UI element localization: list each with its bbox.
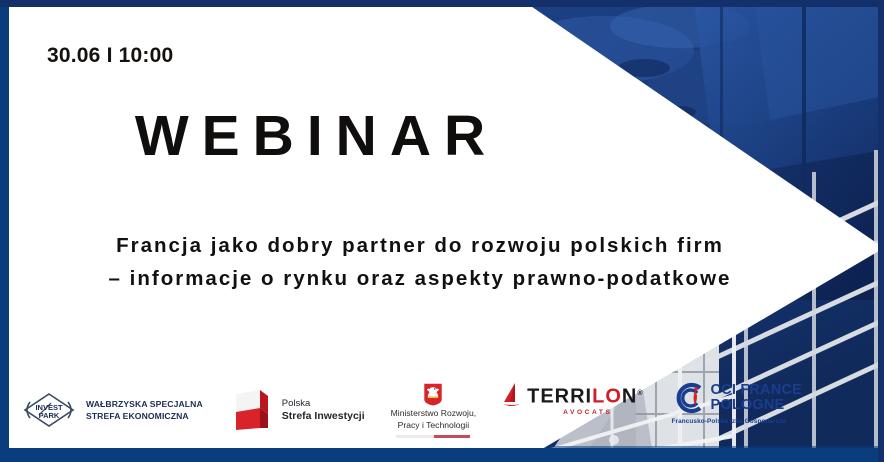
subtitle-line-2: – informacje o rynku oraz aspekty prawno…	[0, 262, 840, 295]
terrilon-part-1: TERRI	[527, 385, 592, 407]
subtitle-line-1: Francja jako dobry partner do rozwoju po…	[0, 229, 840, 262]
terrilon-part-3: N	[622, 385, 637, 407]
polska-strefa-text: Polska Strefa Inwestycji	[282, 397, 365, 423]
terrilon-wordmark: TERRILON®	[527, 384, 643, 407]
logo-cci-france-pologne: CCI FRANCE POLOGNE Francusko-Polska Izba…	[672, 382, 802, 438]
invest-park-diamond-icon: INVEST PARK	[21, 390, 77, 430]
polska-strefa-flag-icon	[234, 388, 274, 432]
polska-strefa-line-2: Strefa Inwestycji	[282, 410, 365, 423]
cci-tagline: Francusko-Polska Izba Gospodarcza	[672, 418, 787, 425]
terrilon-subtitle: AVOCATS	[563, 409, 612, 416]
frame-top-border	[0, 0, 884, 7]
webinar-poster: 30.06 I 10:00 WEBINAR Francja jako dobry…	[0, 0, 884, 462]
invest-park-line-2: STREFA EKONOMICZNA	[86, 410, 203, 422]
sponsor-logo-bar: INVEST PARK WAŁBRZYSKA SPECJALNA STREFA …	[9, 372, 669, 448]
logo-ministerstwo: Ministerstwo Rozwoju, Pracy i Technologi…	[391, 382, 476, 438]
frame-right-border	[878, 0, 884, 462]
event-date-time: 30.06 I 10:00	[47, 44, 173, 68]
cci-line-2: POLOGNE	[711, 398, 802, 414]
frame-left-border	[0, 0, 9, 462]
terrilon-part-2: LO	[592, 385, 622, 407]
page-title: WEBINAR	[0, 107, 620, 167]
polska-strefa-line-1: Polska	[282, 397, 365, 410]
ministerstwo-rule	[396, 435, 470, 438]
logo-terrilon: TERRILON® AVOCATS	[502, 382, 643, 438]
ministerstwo-line-1: Ministerstwo Rozwoju,	[391, 408, 476, 420]
frame-bottom-border	[0, 448, 884, 462]
ministerstwo-text: Ministerstwo Rozwoju, Pracy i Technologi…	[391, 408, 476, 431]
polish-eagle-icon	[420, 382, 446, 406]
cci-row: CCI FRANCE POLOGNE	[672, 382, 802, 414]
invest-park-text: WAŁBRZYSKA SPECJALNA STREFA EKONOMICZNA	[86, 398, 203, 422]
cci-wordmark: CCI FRANCE POLOGNE	[711, 383, 802, 414]
terrilon-registered-mark: ®	[637, 390, 643, 397]
terrilon-row: TERRILON®	[502, 382, 643, 408]
event-subtitle: Francja jako dobry partner do rozwoju po…	[0, 229, 840, 295]
invest-park-line-1: WAŁBRZYSKA SPECJALNA	[86, 398, 203, 410]
ministerstwo-line-2: Pracy i Technologii	[391, 420, 476, 432]
logo-polska-strefa-inwestycji: Polska Strefa Inwestycji	[234, 382, 365, 438]
svg-text:PARK: PARK	[39, 411, 60, 420]
terrilon-sail-icon	[502, 382, 522, 408]
cci-line-1: CCI FRANCE	[711, 383, 802, 399]
cci-circle-icon	[672, 382, 704, 414]
logo-invest-park: INVEST PARK WAŁBRZYSKA SPECJALNA STREFA …	[21, 382, 203, 438]
